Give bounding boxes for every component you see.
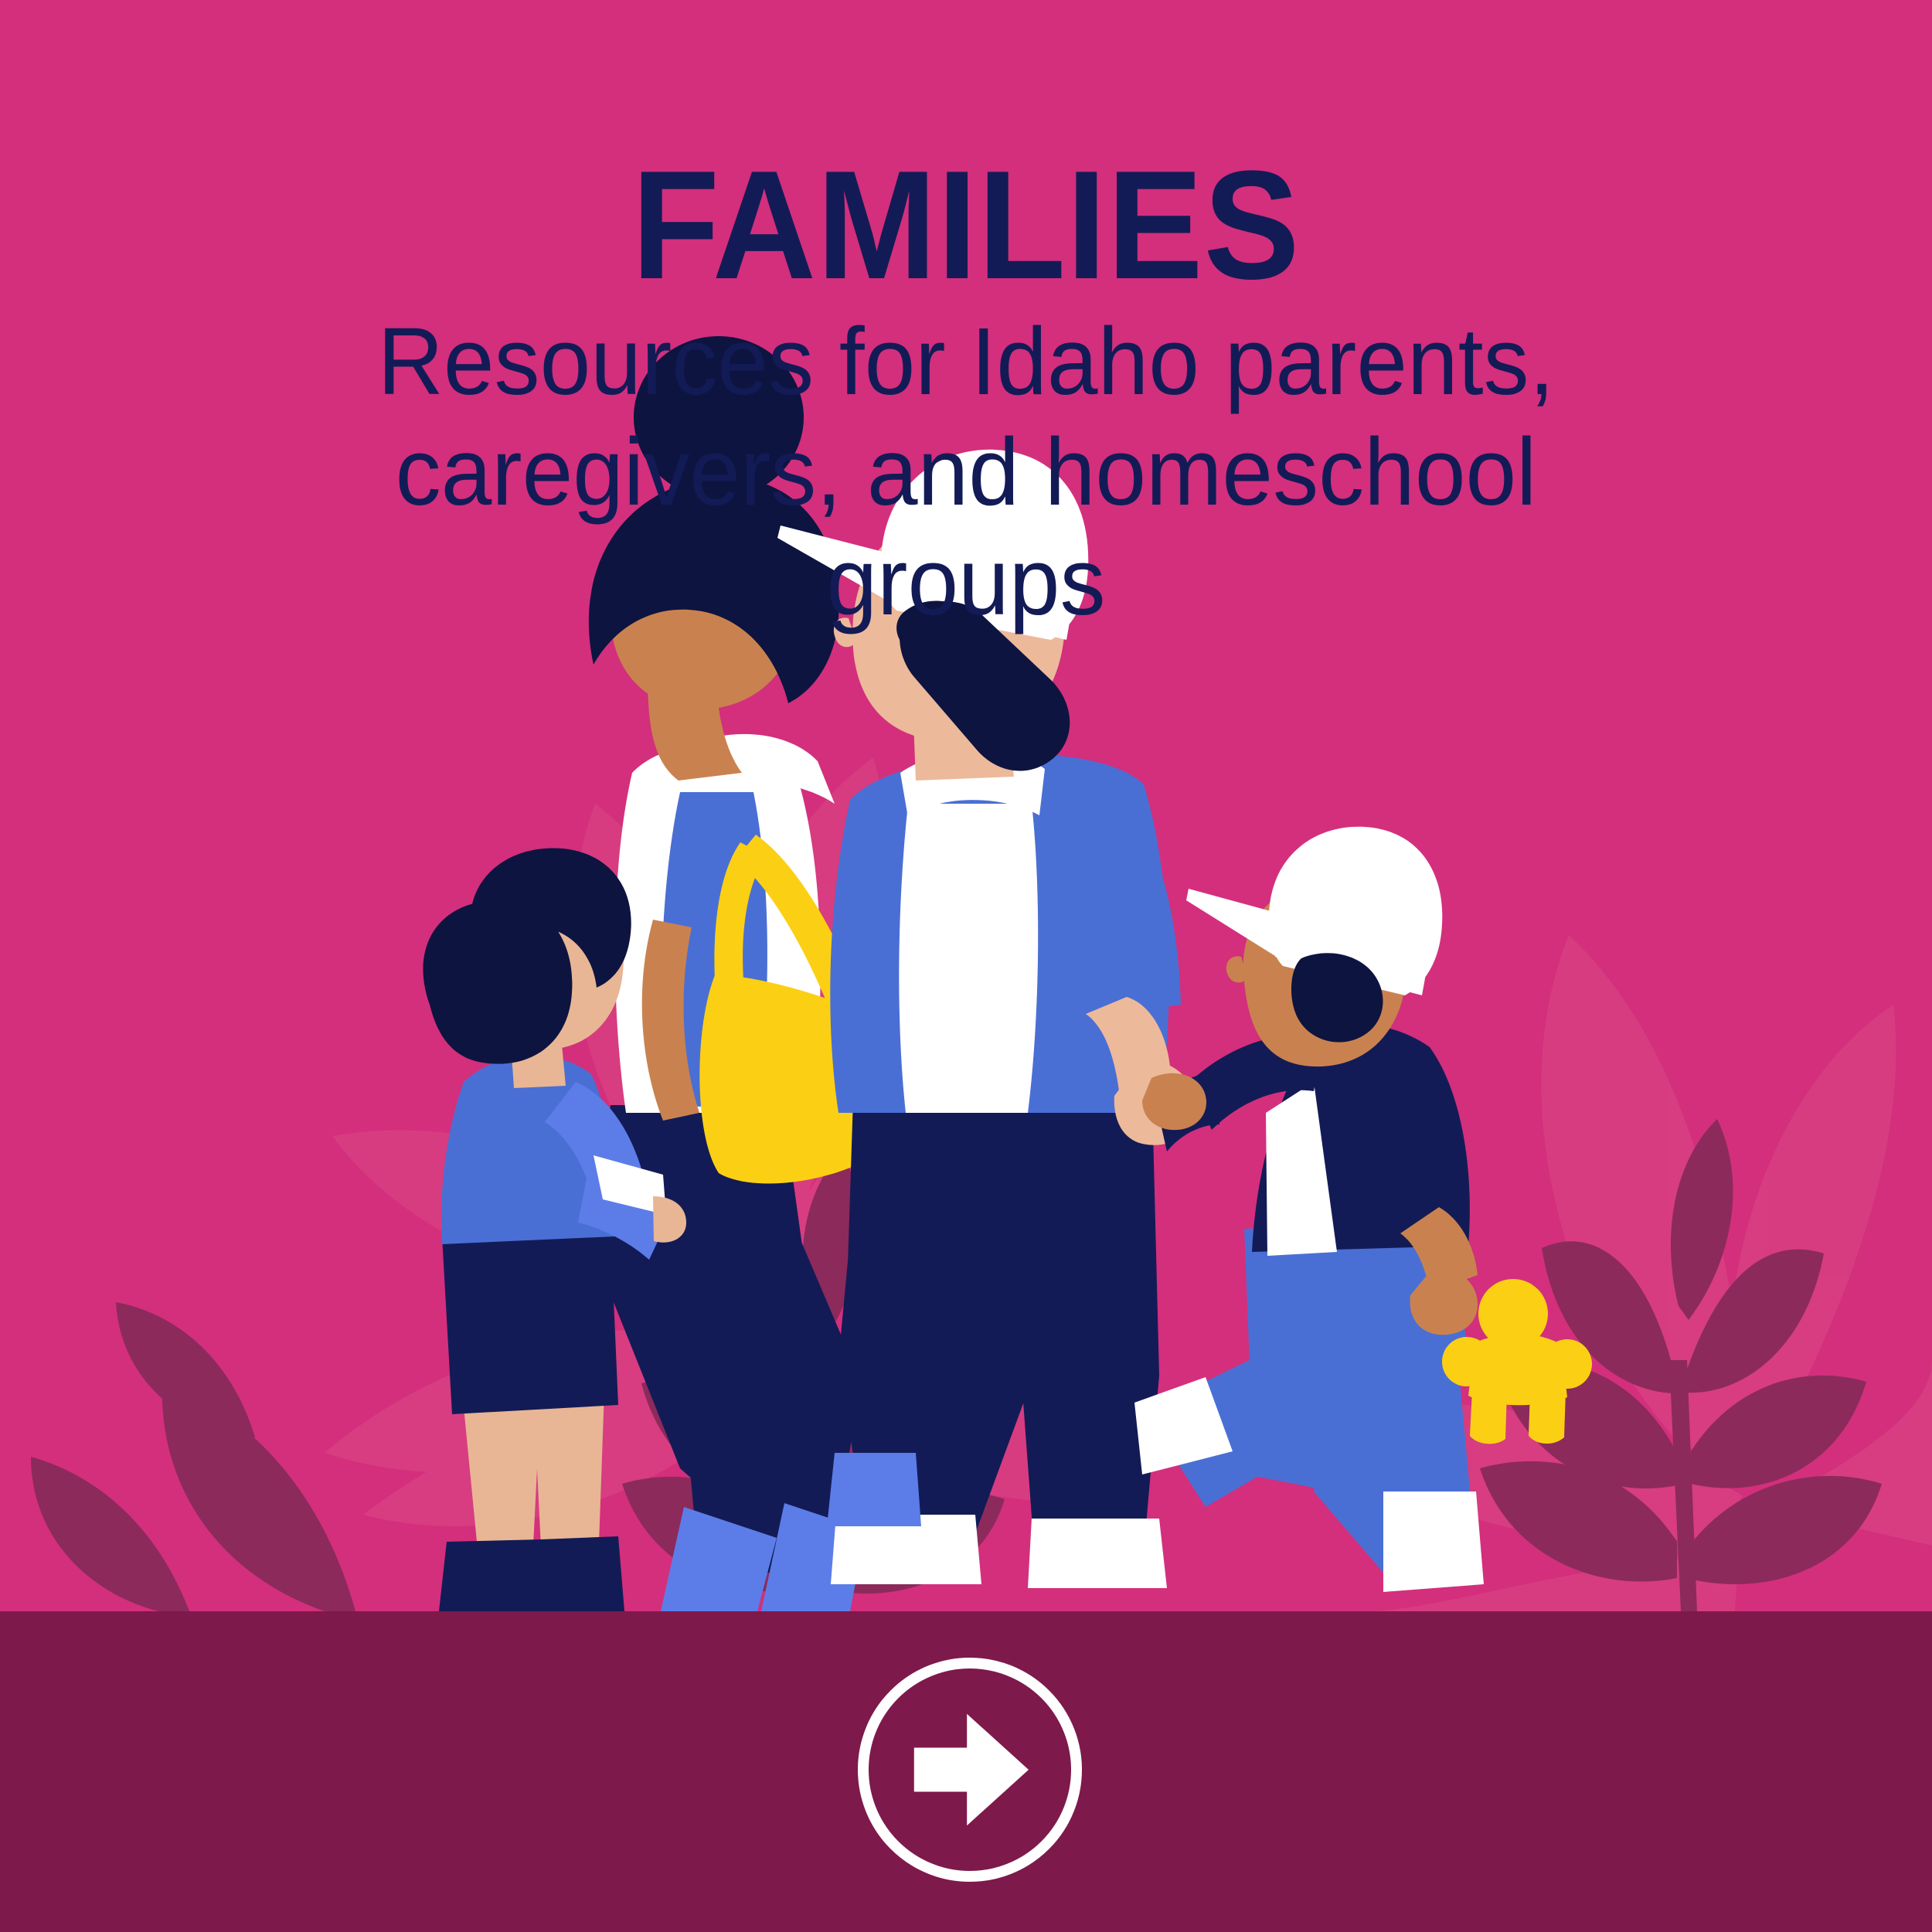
child-right-hand-raised bbox=[1142, 1073, 1206, 1130]
child-left-hair-back bbox=[423, 900, 572, 1064]
next-button[interactable] bbox=[858, 1658, 1082, 1882]
adult-front-ankle bbox=[827, 1453, 921, 1526]
adult-back-top-knot bbox=[634, 336, 804, 498]
child-left-shoe-1 bbox=[439, 1539, 545, 1611]
families-slide: FAMILIES Resources for Idaho parents, ca… bbox=[0, 0, 1932, 1932]
child-right-shoe-front bbox=[1383, 1492, 1484, 1592]
child-left-leg-2 bbox=[533, 1391, 604, 1547]
child-left-shorts bbox=[442, 1229, 618, 1414]
arrow-right-icon bbox=[896, 1696, 1043, 1843]
adult-front-shirt bbox=[899, 804, 1038, 1113]
child-left-shoe-2 bbox=[533, 1536, 624, 1611]
adult-front-shoe-2 bbox=[1028, 1519, 1167, 1588]
